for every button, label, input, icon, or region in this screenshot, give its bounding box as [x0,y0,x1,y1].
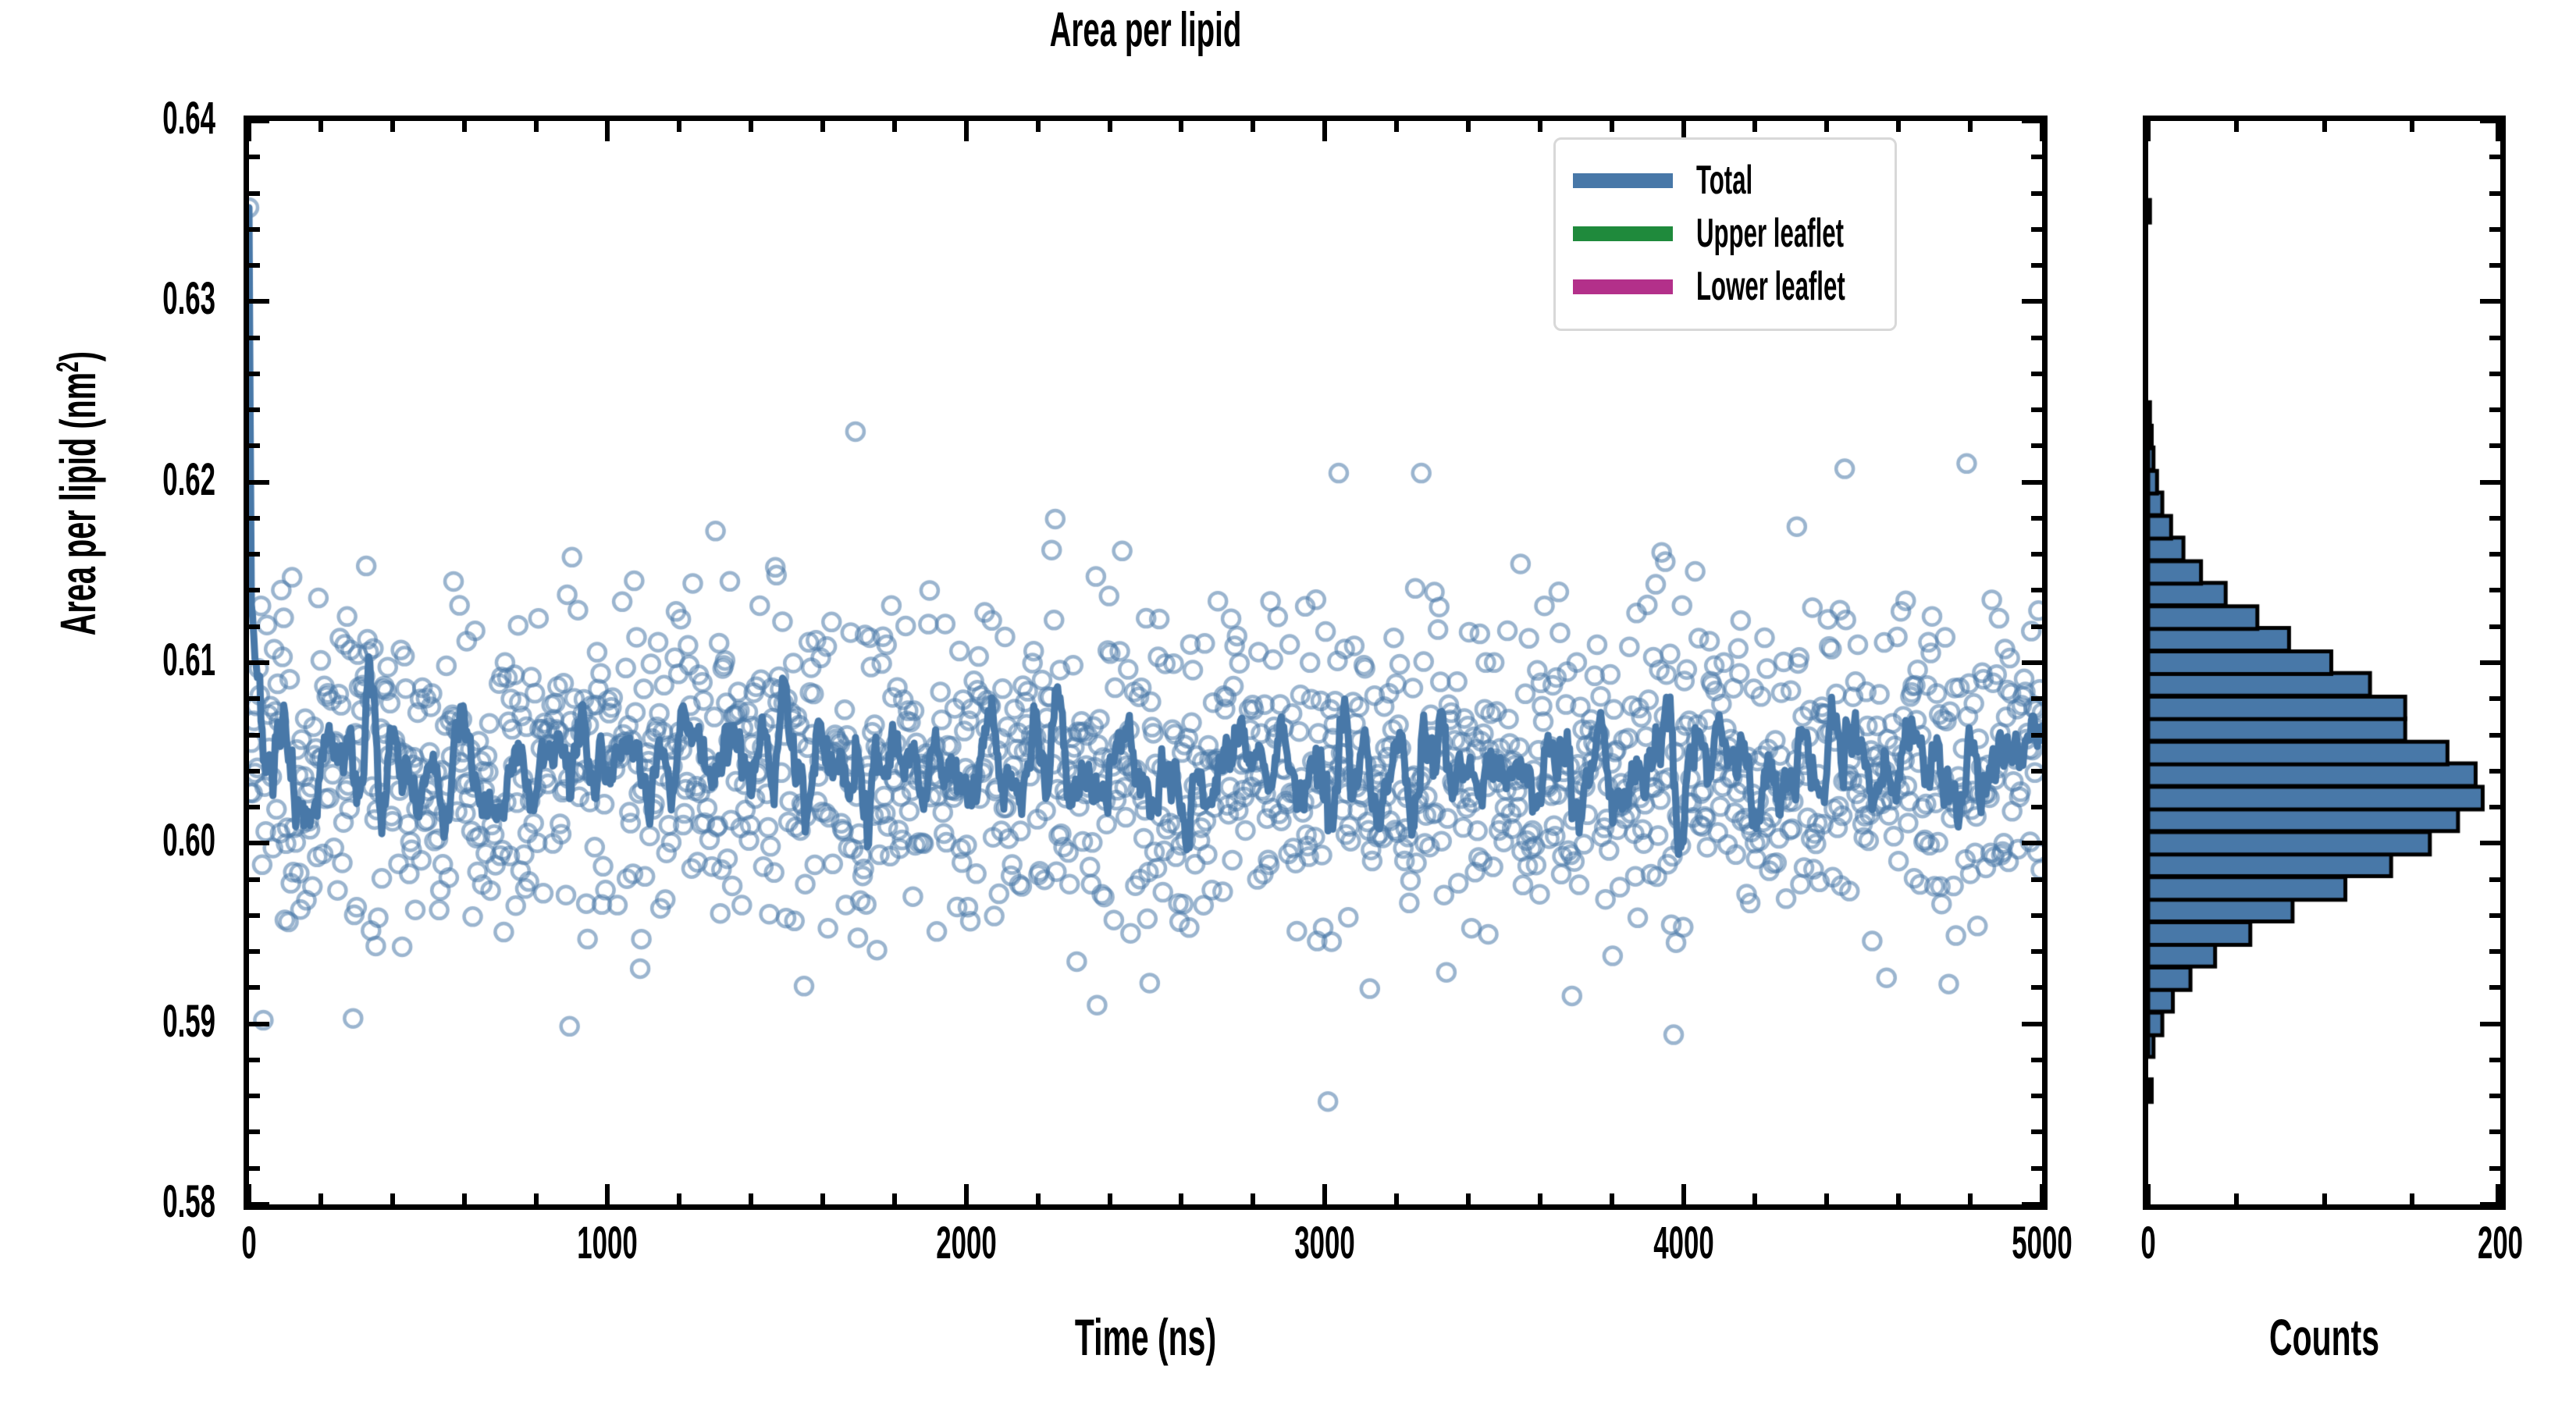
figure-root: Area per lipid 0.580.590.600.610.620.630… [0,0,2576,1405]
y-minor-tick-right [2031,155,2042,159]
y-minor-tick-right [2031,516,2042,521]
x-minor-tick-top [1036,121,1041,132]
y-major-tick-right [2022,480,2042,485]
y-minor-tick [249,877,260,882]
x-minor-tick [1896,1193,1901,1204]
hist-y-minor-tick [2489,624,2500,629]
y-minor-tick [249,805,260,809]
hist-y-minor-tick [2489,769,2500,774]
hist-y-minor-tick [2489,516,2500,521]
x-minor-tick [1752,1193,1757,1204]
x-major-tick-top [2040,121,2044,141]
y-major-tick-right [2022,1022,2042,1026]
x-minor-tick [318,1193,323,1204]
x-minor-tick-top [462,121,467,132]
y-minor-tick-right [2031,985,2042,990]
y-minor-tick [249,913,260,918]
y-minor-tick-right [2031,588,2042,592]
legend-item-lower-leaflet[interactable]: Lower leaflet [1573,260,1877,313]
x-minor-tick [677,1193,681,1204]
x-axis-title: Time (ns) [586,1311,1705,1363]
y-major-tick-right [2022,660,2042,665]
hist-y-major-tick [2480,1022,2500,1026]
x-minor-tick [1610,1193,1614,1204]
hist-y-minor-tick [2489,191,2500,196]
x-minor-tick-top [1538,121,1542,132]
y-major-tick [249,841,269,845]
hist-y-major-tick [2480,660,2500,665]
x-major-tick [964,1184,969,1204]
hist-y-major-tick [2480,841,2500,845]
x-major-tick [605,1184,610,1204]
y-major-tick [249,1022,269,1026]
x-minor-tick-top [1824,121,1829,132]
x-minor-tick-top [390,121,395,132]
y-major-tick-right [2022,841,2042,845]
hist-x-major-tick [2496,1184,2500,1204]
hist-y-minor-tick [2489,1166,2500,1171]
y-minor-tick-right [2031,1166,2042,1171]
legend: Total Upper leaflet Lower leaflet [1553,137,1897,331]
y-minor-tick [249,985,260,990]
y-minor-tick [249,552,260,557]
y-minor-tick [249,1058,260,1062]
x-major-tick [1681,1184,1686,1204]
y-minor-tick-right [2031,372,2042,376]
histogram-panel [2143,116,2506,1210]
y-major-tick [249,480,269,485]
hist-x-major-tick-top [2146,121,2151,141]
x-major-tick-top [605,121,610,141]
x-tick-label: 3000 [1231,1221,1418,1266]
x-tick-label: 4000 [1590,1221,1777,1266]
histogram-canvas [2148,121,2500,1204]
y-minor-tick-right [2031,407,2042,412]
y-minor-tick-right [2031,877,2042,882]
hist-y-minor-tick [2489,1129,2500,1134]
x-minor-tick-top [892,121,897,132]
hist-y-minor-tick [2489,1094,2500,1098]
hist-y-minor-tick [2489,588,2500,592]
y-tick-label: 0.62 [0,457,215,503]
hist-y-minor-tick [2489,263,2500,268]
y-tick-label: 0.58 [0,1179,215,1225]
y-minor-tick [249,263,260,268]
x-minor-tick-top [1896,121,1901,132]
hist-x-tick-label: 200 [2407,1221,2576,1266]
x-minor-tick [1036,1193,1041,1204]
hist-x-minor-tick-top [2322,121,2327,132]
y-axis-title: Area per lipid (nm2) [53,300,103,687]
y-axis-title-superscript: 2 [51,361,85,372]
hist-y-minor-tick [2489,949,2500,954]
hist-y-minor-tick [2489,877,2500,882]
x-minor-tick [1251,1193,1255,1204]
x-minor-tick-top [749,121,753,132]
y-minor-tick [249,227,260,232]
hist-y-minor-tick [2489,696,2500,701]
x-minor-tick-top [1610,121,1614,132]
hist-y-major-tick [2480,299,2500,304]
x-tick-label: 2000 [873,1221,1060,1266]
hist-y-minor-tick [2489,407,2500,412]
y-minor-tick-right [2031,1129,2042,1134]
y-minor-tick [249,588,260,592]
y-minor-tick [249,949,260,954]
hist-x-minor-tick [2410,1193,2414,1204]
hist-y-minor-tick [2489,336,2500,340]
y-minor-tick [249,696,260,701]
x-major-tick-top [964,121,969,141]
hist-y-minor-tick [2489,372,2500,376]
y-minor-tick-right [2031,805,2042,809]
x-minor-tick [820,1193,825,1204]
y-minor-tick [249,624,260,629]
x-tick-label: 1000 [514,1221,701,1266]
hist-x-minor-tick-top [2234,121,2239,132]
y-minor-tick [249,1129,260,1134]
y-minor-tick [249,1094,260,1098]
hist-y-minor-tick [2489,552,2500,557]
x-minor-tick [534,1193,539,1204]
y-minor-tick-right [2031,949,2042,954]
x-minor-tick [462,1193,467,1204]
legend-swatch-total [1573,173,1673,188]
y-major-tick-right [2022,299,2042,304]
y-minor-tick [249,407,260,412]
y-tick-label: 0.64 [0,96,215,141]
x-major-tick-top [1322,121,1327,141]
x-minor-tick [1466,1193,1471,1204]
y-minor-tick-right [2031,263,2042,268]
legend-swatch-lower-leaflet [1573,279,1673,294]
hist-y-minor-tick [2489,913,2500,918]
hist-y-minor-tick [2489,227,2500,232]
y-minor-tick [249,733,260,738]
legend-label-lower-leaflet: Lower leaflet [1696,266,1845,307]
y-minor-tick-right [2031,624,2042,629]
x-minor-tick [749,1193,753,1204]
hist-x-minor-tick-top [2410,121,2414,132]
hist-x-tick-label: 0 [2055,1221,2242,1266]
x-minor-tick-top [1968,121,1973,132]
y-minor-tick [249,191,260,196]
y-major-tick [249,119,269,123]
legend-label-total: Total [1696,160,1752,201]
x-minor-tick-top [1752,121,1757,132]
page-title: Area per lipid [586,6,1705,55]
y-minor-tick [249,372,260,376]
x-minor-tick [1179,1193,1183,1204]
hist-y-minor-tick [2489,443,2500,448]
x-major-tick [2040,1184,2044,1204]
y-axis-title-text: Area per lipid (nm [50,372,106,635]
legend-label-upper-leaflet: Upper leaflet [1696,213,1844,254]
x-minor-tick-top [1108,121,1112,132]
x-minor-tick-top [534,121,539,132]
hist-y-minor-tick [2489,733,2500,738]
y-tick-label: 0.59 [0,999,215,1044]
hist-x-minor-tick [2322,1193,2327,1204]
hist-y-minor-tick [2489,155,2500,159]
hist-y-minor-tick [2489,985,2500,990]
x-minor-tick [1538,1193,1542,1204]
x-minor-tick [1968,1193,1973,1204]
x-minor-tick-top [1466,121,1471,132]
legend-swatch-upper-leaflet [1573,226,1673,241]
y-minor-tick-right [2031,191,2042,196]
y-minor-tick-right [2031,227,2042,232]
y-minor-tick-right [2031,769,2042,774]
y-tick-label: 0.60 [0,818,215,863]
y-minor-tick-right [2031,733,2042,738]
hist-y-major-tick [2480,480,2500,485]
x-minor-tick-top [318,121,323,132]
x-minor-tick-top [1394,121,1399,132]
legend-item-upper-leaflet[interactable]: Upper leaflet [1573,207,1877,260]
hist-y-minor-tick [2489,805,2500,809]
y-major-tick [249,660,269,665]
y-minor-tick [249,1166,260,1171]
x-minor-tick-top [1251,121,1255,132]
y-tick-label: 0.63 [0,276,215,322]
y-minor-tick-right [2031,696,2042,701]
x-major-tick-top [247,121,251,141]
histogram-x-axis-title: Counts [2211,1311,2436,1363]
hist-x-major-tick-top [2496,121,2500,141]
y-minor-tick-right [2031,1058,2042,1062]
legend-item-total[interactable]: Total [1573,154,1877,207]
y-minor-tick [249,155,260,159]
x-minor-tick-top [677,121,681,132]
x-minor-tick [1108,1193,1112,1204]
y-tick-label: 0.61 [0,638,215,683]
x-minor-tick [892,1193,897,1204]
x-minor-tick-top [820,121,825,132]
y-minor-tick-right [2031,913,2042,918]
x-major-tick [1322,1184,1327,1204]
y-minor-tick [249,443,260,448]
y-minor-tick [249,336,260,340]
y-minor-tick-right [2031,336,2042,340]
x-minor-tick-top [1179,121,1183,132]
x-minor-tick [390,1193,395,1204]
x-minor-tick [1824,1193,1829,1204]
y-minor-tick-right [2031,552,2042,557]
x-major-tick [247,1184,251,1204]
hist-y-minor-tick [2489,1058,2500,1062]
y-axis-title-tail: ) [50,351,106,361]
x-tick-label: 0 [155,1221,343,1266]
y-minor-tick-right [2031,1094,2042,1098]
y-minor-tick-right [2031,443,2042,448]
y-major-tick [249,1202,269,1207]
x-minor-tick [1394,1193,1399,1204]
y-minor-tick [249,769,260,774]
hist-x-major-tick [2146,1184,2151,1204]
y-major-tick [249,299,269,304]
hist-x-minor-tick [2234,1193,2239,1204]
y-minor-tick [249,516,260,521]
